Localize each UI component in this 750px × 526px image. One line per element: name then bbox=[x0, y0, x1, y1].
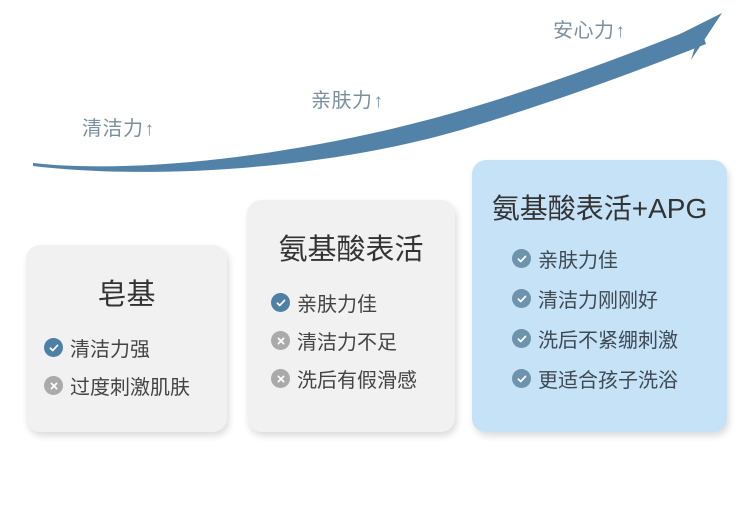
comparison-card-soap-base: 皂基 清洁力强 过度刺激肌肤 bbox=[26, 245, 227, 432]
list-item: 洗后有假滑感 bbox=[271, 364, 455, 393]
check-circle-icon bbox=[512, 289, 531, 308]
feature-text: 亲肤力佳 bbox=[297, 288, 377, 317]
stage-label-text: 安心力 bbox=[553, 20, 615, 42]
stage-label-text: 清洁力 bbox=[82, 118, 144, 140]
feature-text: 过度刺激肌肤 bbox=[70, 371, 190, 400]
stage-label-safety: 安心力↑ bbox=[553, 14, 626, 43]
cross-circle-icon bbox=[44, 376, 63, 395]
check-circle-icon bbox=[512, 329, 531, 348]
cross-circle-icon bbox=[271, 369, 290, 388]
feature-text: 清洁力不足 bbox=[297, 326, 397, 355]
card-title: 氨基酸表活+APG bbox=[472, 187, 727, 227]
surfactant-comparison-infographic: 清洁力↑ 亲肤力↑ 安心力↑ 皂基 清洁力强 过度刺激肌肤 氨基酸表活 bbox=[0, 0, 750, 526]
feature-text: 洗后有假滑感 bbox=[297, 364, 417, 393]
feature-list: 亲肤力佳 清洁力刚刚好 洗后不紧绷刺激 更适合孩子洗浴 bbox=[512, 244, 727, 393]
list-item: 清洁力强 bbox=[44, 333, 227, 362]
stage-label-text: 亲肤力 bbox=[311, 90, 373, 112]
list-item: 过度刺激肌肤 bbox=[44, 371, 227, 400]
feature-text: 清洁力刚刚好 bbox=[538, 284, 658, 313]
list-item: 清洁力不足 bbox=[271, 326, 455, 355]
feature-text: 更适合孩子洗浴 bbox=[538, 364, 678, 393]
up-arrow-icon: ↑ bbox=[616, 21, 626, 42]
check-circle-icon bbox=[512, 249, 531, 268]
list-item: 洗后不紧绷刺激 bbox=[512, 324, 727, 353]
card-title: 氨基酸表活 bbox=[247, 226, 455, 268]
comparison-card-amino-acid: 氨基酸表活 亲肤力佳 清洁力不足 洗后有假滑感 bbox=[247, 200, 455, 432]
stage-label-cleansing: 清洁力↑ bbox=[82, 112, 155, 141]
up-arrow-icon: ↑ bbox=[374, 91, 384, 112]
list-item: 更适合孩子洗浴 bbox=[512, 364, 727, 393]
list-item: 亲肤力佳 bbox=[512, 244, 727, 273]
feature-text: 清洁力强 bbox=[70, 333, 150, 362]
list-item: 亲肤力佳 bbox=[271, 288, 455, 317]
check-circle-icon bbox=[44, 338, 63, 357]
up-arrow-icon: ↑ bbox=[145, 119, 155, 140]
feature-list: 清洁力强 过度刺激肌肤 bbox=[44, 333, 227, 400]
feature-text: 洗后不紧绷刺激 bbox=[538, 324, 678, 353]
feature-text: 亲肤力佳 bbox=[538, 244, 618, 273]
list-item: 清洁力刚刚好 bbox=[512, 284, 727, 313]
cross-circle-icon bbox=[271, 331, 290, 350]
comparison-card-amino-acid-apg: 氨基酸表活+APG 亲肤力佳 清洁力刚刚好 洗后不紧绷刺激 bbox=[472, 160, 727, 432]
stage-label-skin-affinity: 亲肤力↑ bbox=[311, 84, 384, 113]
check-circle-icon bbox=[271, 293, 290, 312]
feature-list: 亲肤力佳 清洁力不足 洗后有假滑感 bbox=[271, 288, 455, 393]
card-title: 皂基 bbox=[26, 271, 227, 313]
check-circle-icon bbox=[512, 369, 531, 388]
